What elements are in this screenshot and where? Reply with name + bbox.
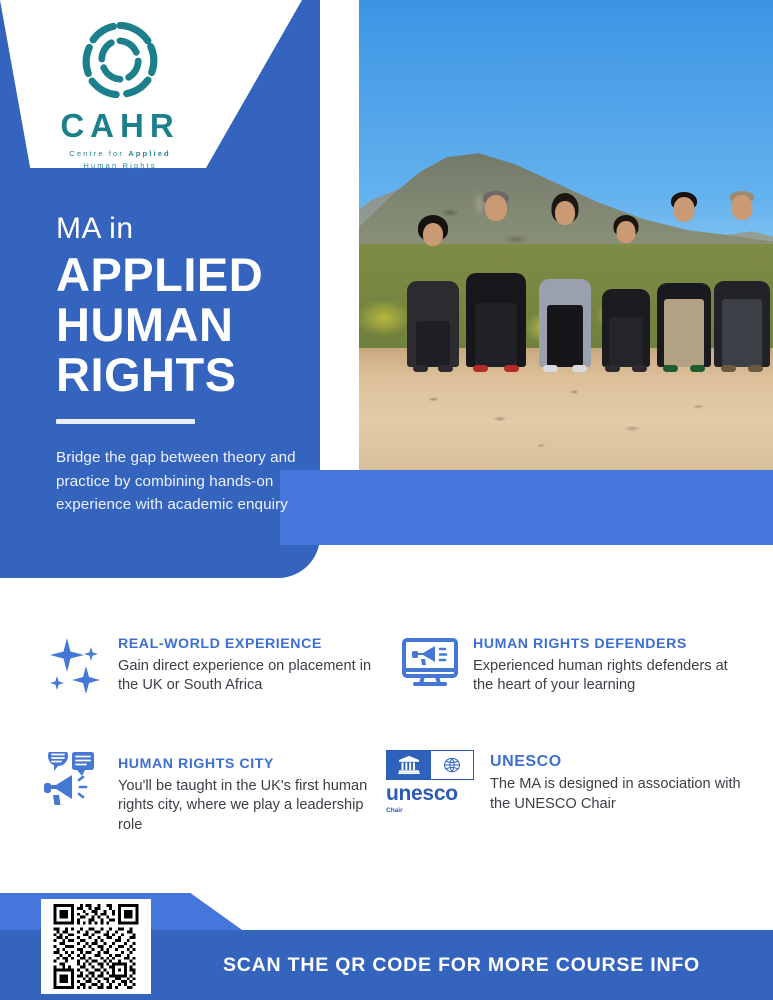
- cahr-tagline: Centre for Applied Human Rights: [55, 148, 185, 172]
- monitor-megaphone-icon: [399, 632, 461, 694]
- unesco-temple-icon: [387, 751, 431, 779]
- feature-body: REAL-WORLD EXPERIENCE Gain direct experi…: [118, 632, 374, 696]
- person-2: [463, 191, 529, 367]
- hero-description: Bridge the gap between theory and practi…: [56, 446, 318, 515]
- title-underline-rule: [56, 419, 195, 424]
- unesco-chair-logo: unesco Chair: [386, 750, 478, 812]
- feature-text: The MA is designed in association with t…: [490, 775, 746, 814]
- feature-body: HUMAN RIGHTS DEFENDERS Experienced human…: [473, 632, 749, 696]
- sparkle-stars-icon: [44, 632, 106, 694]
- feature-title: REAL-WORLD EXPERIENCE: [118, 636, 374, 653]
- person-1: [405, 217, 461, 367]
- cahr-acronym: CAHR: [55, 109, 185, 142]
- feature-human-rights-defenders: HUMAN RIGHTS DEFENDERS Experienced human…: [399, 632, 749, 696]
- hero-kicker: MA in: [56, 214, 328, 244]
- cahr-tagline-line1a: Centre for: [69, 149, 128, 158]
- page-title: APPLIED HUMAN RIGHTS: [56, 250, 328, 399]
- title-line-2: HUMAN: [56, 300, 328, 350]
- feature-title: HUMAN RIGHTS DEFENDERS: [473, 636, 749, 653]
- feature-body: UNESCO The MA is designed in association…: [490, 750, 746, 814]
- feature-body: HUMAN RIGHTS CITY You'll be taught in th…: [118, 752, 374, 835]
- cahr-logo: CAHR Centre for Applied Human Rights: [55, 12, 185, 172]
- qr-code-matrix: [46, 904, 146, 989]
- feature-unesco: unesco Chair UNESCO The MA is designed i…: [386, 750, 746, 814]
- title-line-3: RIGHTS: [56, 350, 328, 400]
- unesco-chair-label: Chair: [386, 807, 478, 814]
- feature-human-rights-city: HUMAN RIGHTS CITY You'll be taught in th…: [44, 752, 374, 835]
- feature-title: HUMAN RIGHTS CITY: [118, 756, 374, 773]
- person-4: [599, 215, 653, 367]
- cahr-tagline-applied: Applied: [128, 149, 171, 158]
- title-line-1: APPLIED: [56, 250, 328, 300]
- feature-text: Experienced human rights defenders at th…: [473, 657, 749, 696]
- person-3: [535, 195, 595, 367]
- cahr-tagline-line2: Human Rights: [83, 161, 156, 170]
- feature-text: You'll be taught in the UK's first human…: [118, 777, 374, 835]
- speech-bubbles-megaphone-icon: [44, 752, 106, 814]
- unesco-wordmark: unesco: [386, 783, 478, 804]
- hero-text-block: MA in APPLIED HUMAN RIGHTS Bridge the ga…: [56, 214, 328, 516]
- feature-text: Gain direct experience on placement in t…: [118, 657, 374, 696]
- person-6: [713, 191, 771, 367]
- features-grid: REAL-WORLD EXPERIENCE Gain direct experi…: [0, 612, 773, 882]
- hero-photo: [359, 0, 773, 470]
- qr-code-icon[interactable]: [41, 899, 151, 994]
- feature-title: UNESCO: [490, 752, 746, 771]
- unesco-globe-icon: [431, 751, 473, 779]
- unesco-emblem: [386, 750, 474, 780]
- feature-real-world-experience: REAL-WORLD EXPERIENCE Gain direct experi…: [44, 632, 374, 696]
- person-5: [655, 193, 713, 367]
- photo-people-group: [359, 94, 773, 367]
- cahr-swirl-icon: [72, 12, 168, 108]
- accent-band: [280, 470, 773, 545]
